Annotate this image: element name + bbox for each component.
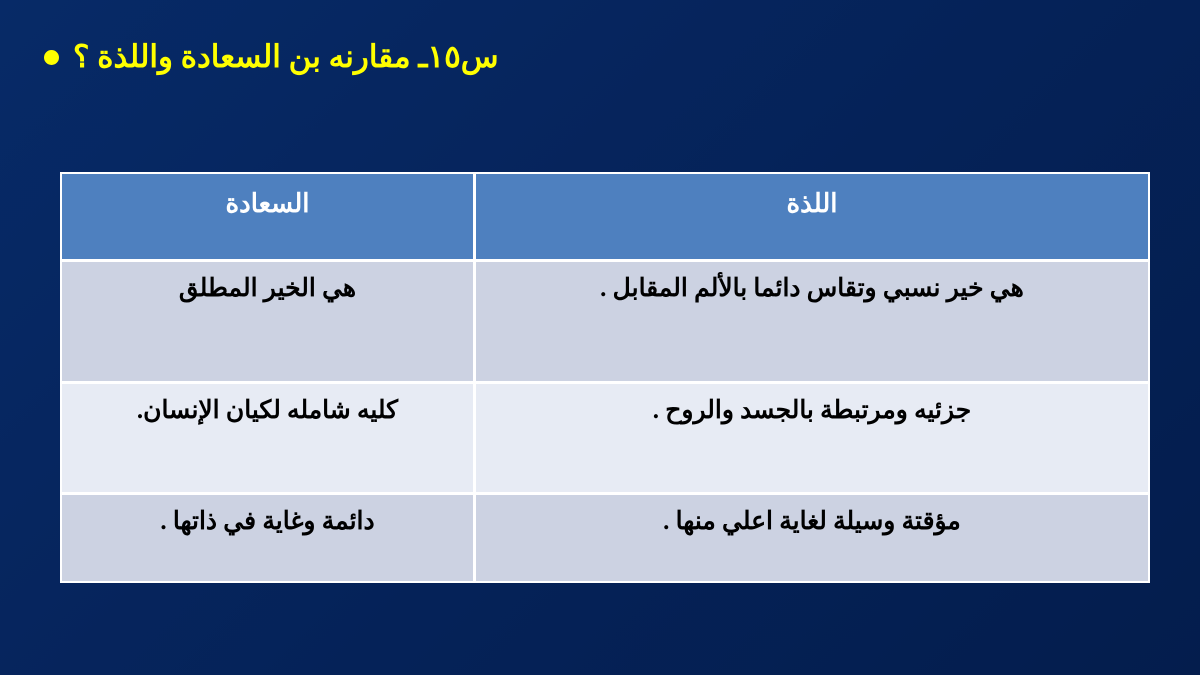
bullet-icon (44, 50, 59, 65)
table-cell-text: هي الخير المطلق (76, 272, 459, 306)
table-cell-pleasure-2: جزئيه ومرتبطة بالجسد والروح . (476, 384, 1148, 491)
table-row: جزئيه ومرتبطة بالجسد والروح . كليه شامله… (62, 384, 1148, 491)
page-title: س١٥ـ مقارنه بن السعادة واللذة ؟ (73, 38, 499, 77)
table-cell-text: مؤقتة وسيلة لغاية اعلي منها . (490, 505, 1134, 539)
table-cell-happiness-3: دائمة وغاية في ذاتها . (62, 495, 473, 581)
table-cell-pleasure-1: هي خير نسبي وتقاس دائما بالألم المقابل . (476, 262, 1148, 382)
table-header-label-pleasure: اللذة (786, 186, 837, 221)
slide-canvas: س١٥ـ مقارنه بن السعادة واللذة ؟ اللذة ال… (0, 0, 1200, 675)
table-cell-happiness-2: كليه شامله لكيان الإنسان. (62, 384, 473, 491)
table-header-cell-happiness: السعادة (62, 174, 473, 259)
table-row: هي خير نسبي وتقاس دائما بالألم المقابل .… (62, 262, 1148, 382)
comparison-table: اللذة السعادة هي خير نسبي وتقاس دائما با… (60, 172, 1150, 583)
table-cell-text: كليه شامله لكيان الإنسان. (76, 394, 459, 428)
table-header-cell-pleasure: اللذة (476, 174, 1148, 259)
table-row: مؤقتة وسيلة لغاية اعلي منها . دائمة وغاي… (62, 495, 1148, 581)
table-header-label-happiness: السعادة (226, 186, 310, 221)
table-header-row: اللذة السعادة (62, 174, 1148, 259)
table-cell-text: هي خير نسبي وتقاس دائما بالألم المقابل . (490, 272, 1134, 306)
table-cell-pleasure-3: مؤقتة وسيلة لغاية اعلي منها . (476, 495, 1148, 581)
table-cell-text: دائمة وغاية في ذاتها . (76, 505, 459, 539)
table-cell-text: جزئيه ومرتبطة بالجسد والروح . (490, 394, 1134, 428)
table-cell-happiness-1: هي الخير المطلق (62, 262, 473, 382)
slide-title-row: س١٥ـ مقارنه بن السعادة واللذة ؟ (40, 38, 1160, 77)
